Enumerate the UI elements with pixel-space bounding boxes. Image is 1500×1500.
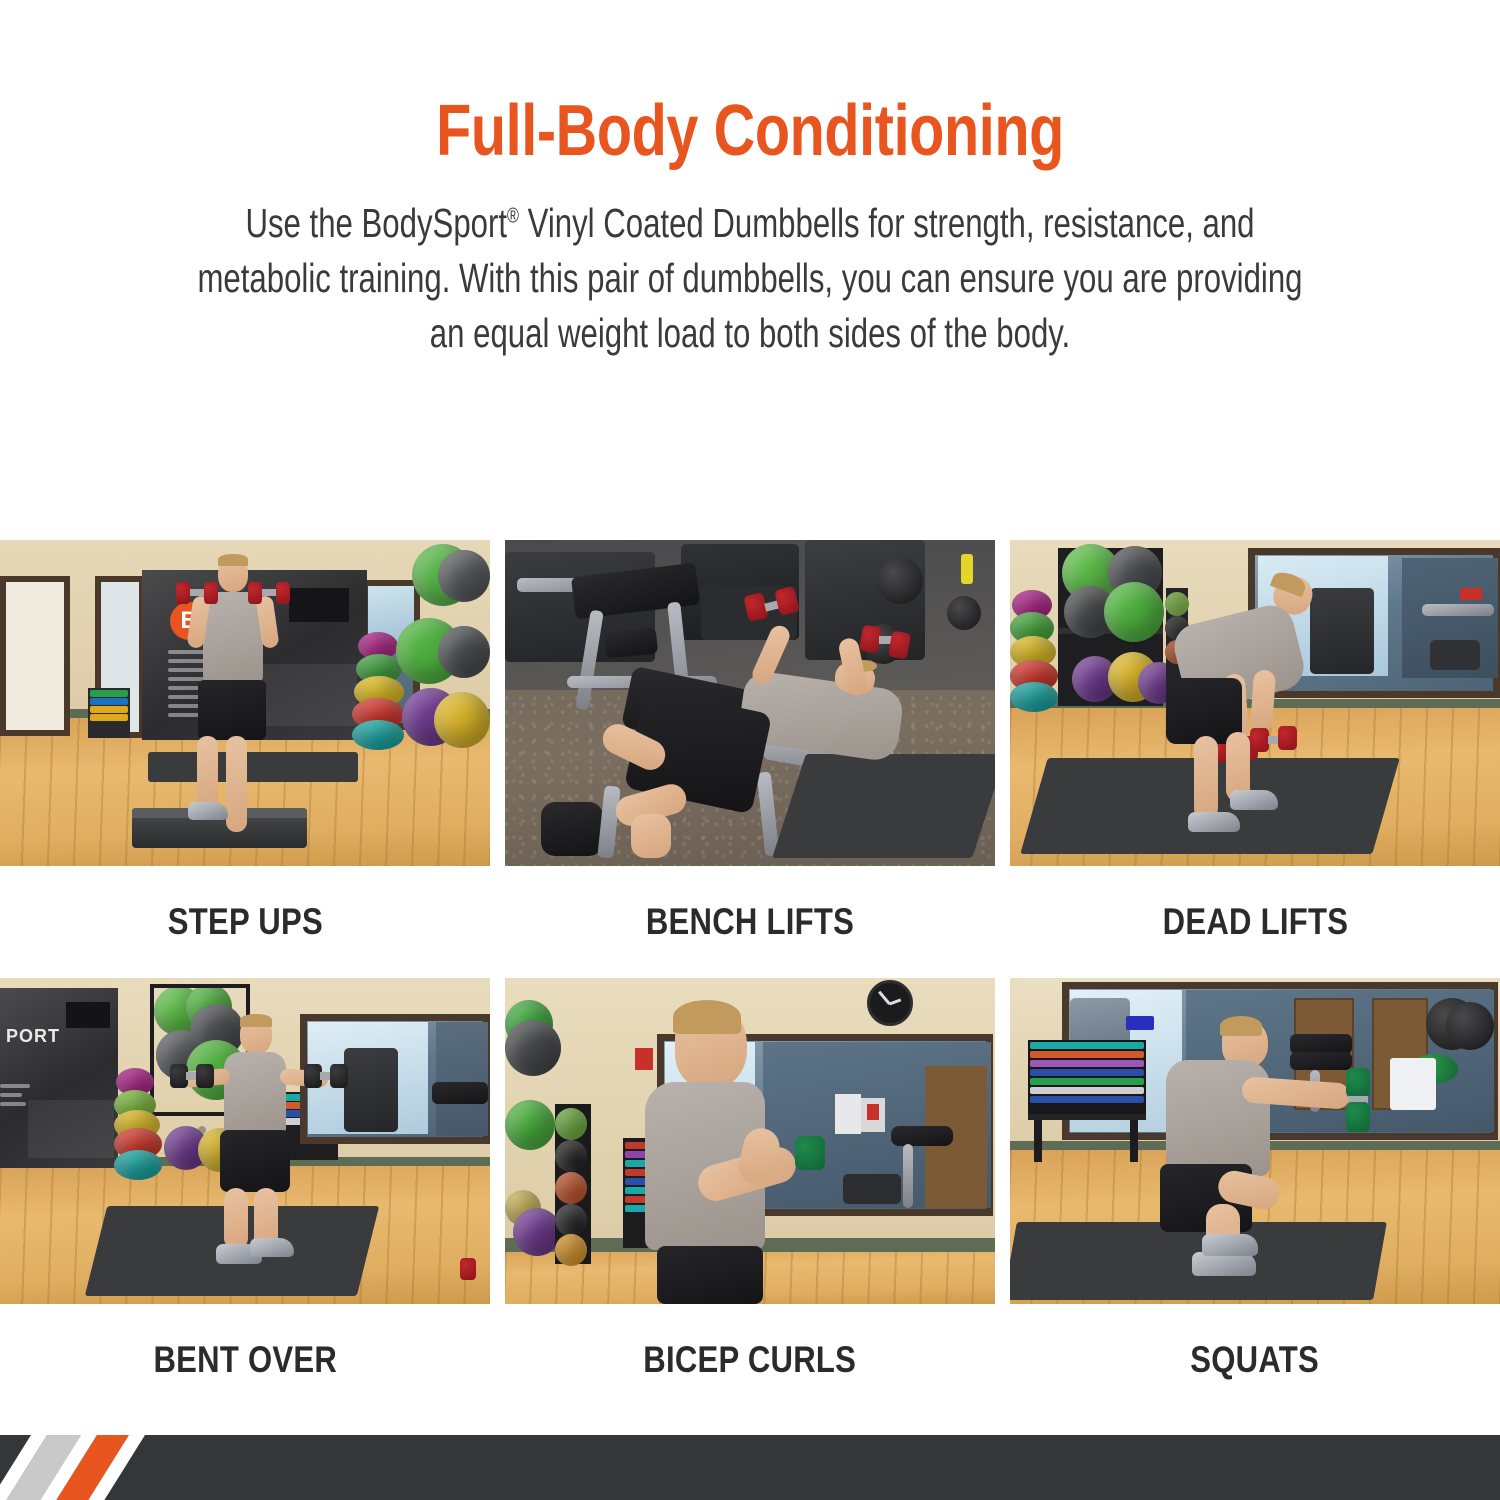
intro-text-before-reg: Use the BodySport [245,200,507,246]
caption-dead-lifts: DEAD LIFTS [1010,866,1500,978]
exercise-grid: B [0,540,1500,1416]
exercise-card-squats: SQUATS [1010,978,1500,1416]
photo-bench-lifts [505,540,995,866]
caption-text: BICEP CURLS [644,1339,857,1381]
page-title: Full-Body Conditioning [150,92,1350,170]
header: Full-Body Conditioning Use the BodySport… [0,0,1500,361]
photo-step-ups: B [0,540,490,866]
exercise-card-bicep-curls: BICEP CURLS [505,978,995,1416]
caption-text: STEP UPS [167,901,322,943]
caption-text: DEAD LIFTS [1162,901,1348,943]
exercise-card-step-ups: B [0,540,490,978]
caption-bent-over: BENT OVER [0,1304,490,1416]
intro-paragraph-wrap: Use the BodySport® Vinyl Coated Dumbbell… [0,196,1500,361]
exercise-row-2: PORT [0,978,1500,1416]
caption-text: BENCH LIFTS [646,901,854,943]
caption-text: SQUATS [1191,1339,1320,1381]
intro-paragraph: Use the BodySport® Vinyl Coated Dumbbell… [180,196,1320,361]
exercise-card-bench-lifts: BENCH LIFTS [505,540,995,978]
exercise-row-1: B [0,540,1500,978]
caption-text: BENT OVER [153,1339,337,1381]
caption-squats: SQUATS [1010,1304,1500,1416]
caption-step-ups: STEP UPS [0,866,490,978]
exercise-card-bent-over: PORT [0,978,490,1416]
photo-dead-lifts [1010,540,1500,866]
exercise-card-dead-lifts: DEAD LIFTS [1010,540,1500,978]
photo-bent-over: PORT [0,978,490,1304]
footer-bar [0,1435,1500,1500]
photo-bicep-curls [505,978,995,1304]
caption-bench-lifts: BENCH LIFTS [505,866,995,978]
photo-squats [1010,978,1500,1304]
registered-trademark-symbol: ® [507,203,519,227]
caption-bicep-curls: BICEP CURLS [505,1304,995,1416]
